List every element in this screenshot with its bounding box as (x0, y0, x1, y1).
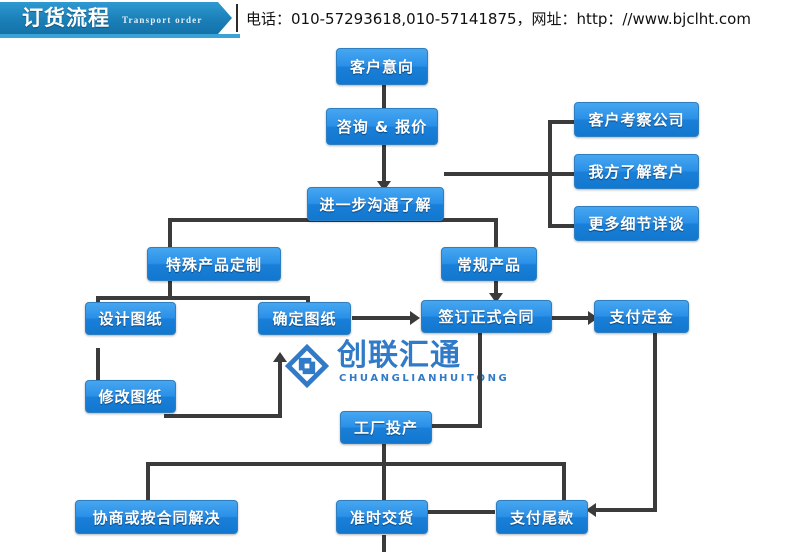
flowchart-canvas: 创联汇通 CHUANGLIANHUITONG (0, 40, 790, 552)
node-customer-intent[interactable]: 客户意向 (336, 48, 428, 85)
connector-sign-down-to-factory (478, 332, 482, 428)
connector-communicate-to-right-trunk (444, 172, 552, 176)
split-bus-drawings (96, 296, 310, 300)
header-divider (236, 4, 238, 32)
logo-mark-icon (283, 342, 331, 390)
node-consult-quote[interactable]: 咨询 & 报价 (326, 108, 438, 145)
company-logo-watermark: 创联汇通 CHUANGLIANHUITONG (283, 338, 483, 394)
node-customer-visit[interactable]: 客户考察公司 (574, 102, 699, 137)
arrowhead-modify-to-confirm (273, 352, 287, 362)
contact-info: 电话：010-57293618,010-57141875，网址：http：//w… (246, 6, 751, 32)
node-confirm-drawing[interactable]: 确定图纸 (258, 302, 351, 335)
node-pay-balance[interactable]: 支付尾款 (496, 500, 588, 534)
logo-name: 创联汇通 (337, 338, 461, 374)
connector-to-we-know-customer (548, 172, 576, 176)
node-on-time-delivery[interactable]: 准时交货 (336, 500, 428, 534)
connector-bus-to-custom-product (168, 218, 172, 248)
page-header: 订货流程 Transport order 电话：010-57293618,010… (0, 0, 790, 40)
page-subtitle: Transport order (122, 14, 203, 26)
node-sign-contract[interactable]: 签订正式合同 (421, 300, 552, 333)
connector-bus-to-standard-product (494, 218, 498, 248)
node-we-know-customer[interactable]: 我方了解客户 (574, 154, 699, 189)
node-design-drawing[interactable]: 设计图纸 (85, 302, 176, 335)
node-more-details[interactable]: 更多细节详谈 (574, 206, 699, 241)
connector-modify-to-confirm-h (164, 414, 282, 418)
connector-modify-to-confirm-v (278, 360, 282, 418)
node-negotiate-or-contract[interactable]: 协商或按合同解决 (75, 500, 238, 534)
node-modify-drawing[interactable]: 修改图纸 (85, 380, 176, 413)
node-factory-production[interactable]: 工厂投产 (340, 411, 432, 444)
node-pay-deposit[interactable]: 支付定金 (594, 300, 689, 333)
header-banner-underline (0, 34, 240, 38)
page-title: 订货流程 (22, 5, 110, 31)
connector-deposit-to-balance-h (592, 508, 657, 512)
logo-pinyin: CHUANGLIANHUITONG (339, 373, 509, 385)
connector-delivery-down-cutoff (382, 535, 386, 552)
node-further-communicate[interactable]: 进一步沟通了解 (307, 187, 444, 221)
node-standard-product[interactable]: 常规产品 (441, 247, 537, 281)
connector-delivery-to-balance (425, 510, 495, 514)
connector-to-more-details (548, 224, 576, 228)
bottom-split-bus (146, 462, 566, 466)
arrowhead-confirm-to-sign (410, 311, 420, 325)
connector-deposit-down (653, 332, 657, 512)
connector-confirm-to-sign (352, 316, 414, 320)
connector-to-customer-visit (548, 120, 576, 124)
node-custom-product[interactable]: 特殊产品定制 (147, 247, 281, 281)
